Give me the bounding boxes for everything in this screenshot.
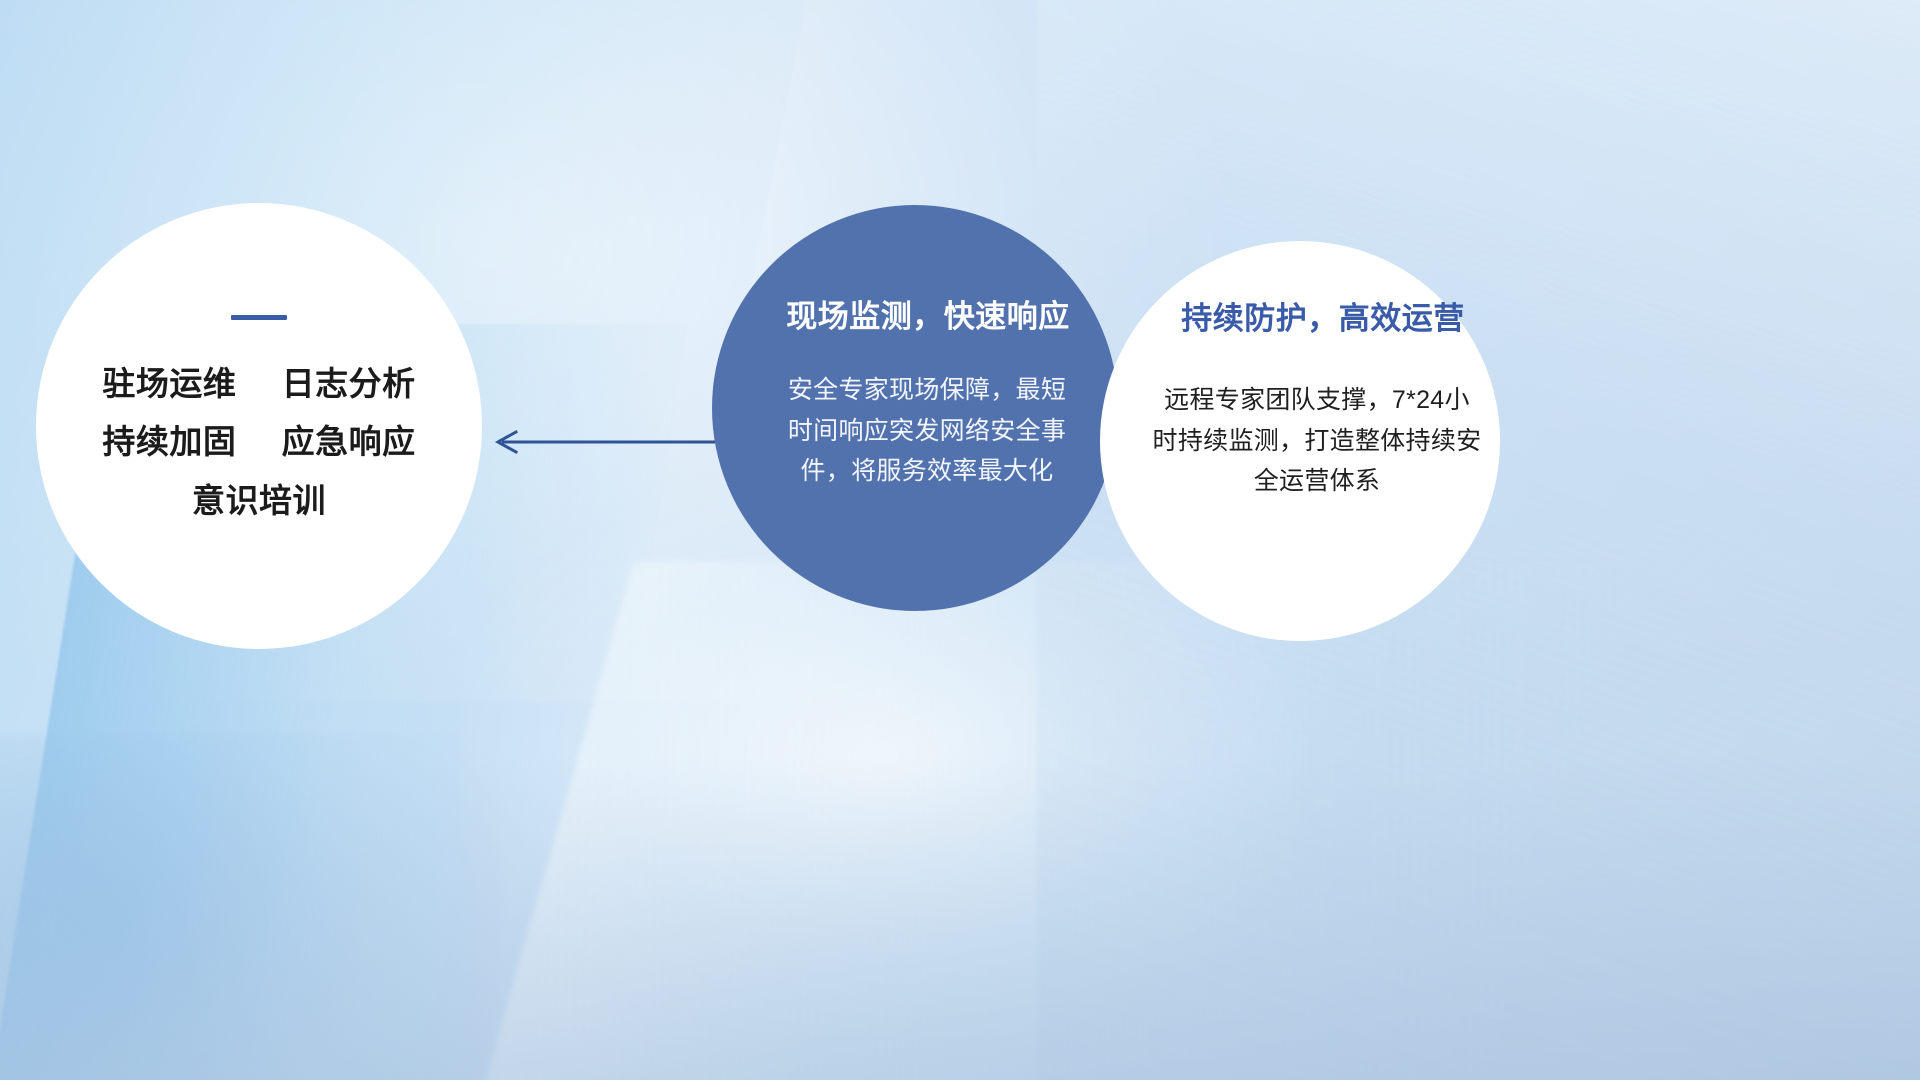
right-circle-body: 远程专家团队支撑，7*24小时持续监测，打造整体持续安全运营体系 (1152, 380, 1482, 502)
right-operations-circle[interactable]: 持续防护，高效运营 远程专家团队支撑，7*24小时持续监测，打造整体持续安全运营… (1100, 241, 1500, 641)
capability-item-emergency-response: 应急响应 (282, 423, 416, 460)
slide-canvas: 驻场运维 日志分析 持续加固 应急响应 意识培训 现场监测，快速响应 安全专家现… (0, 0, 1920, 1080)
capability-item-log-analysis: 日志分析 (282, 365, 416, 402)
middle-onsite-circle[interactable]: 现场监测，快速响应 安全专家现场保障，最短时间响应突发网络安全事件，将服务效率最… (712, 205, 1118, 611)
divider-dash-icon (231, 315, 287, 320)
capability-list: 驻场运维 日志分析 持续加固 应急响应 意识培训 (102, 366, 415, 519)
middle-circle-title: 现场监测，快速响应 (786, 291, 1070, 336)
left-capability-circle[interactable]: 驻场运维 日志分析 持续加固 应急响应 意识培训 (36, 203, 482, 649)
capability-item-continuous-hardening: 持续加固 (102, 423, 236, 460)
middle-circle-body: 安全专家现场保障，最短时间响应突发网络安全事件，将服务效率最大化 (786, 370, 1068, 492)
background-bottom-shade (0, 756, 1920, 1080)
capability-row-2: 持续加固 应急响应 (102, 424, 415, 460)
capability-item-onsite-ops: 驻场运维 (102, 365, 236, 402)
capability-row-3: 意识培训 (192, 483, 326, 519)
right-circle-title: 持续防护，高效运营 (1181, 293, 1465, 338)
connector-arrow (480, 414, 730, 470)
capability-row-1: 驻场运维 日志分析 (102, 366, 415, 402)
capability-item-awareness-training: 意识培训 (192, 482, 326, 519)
